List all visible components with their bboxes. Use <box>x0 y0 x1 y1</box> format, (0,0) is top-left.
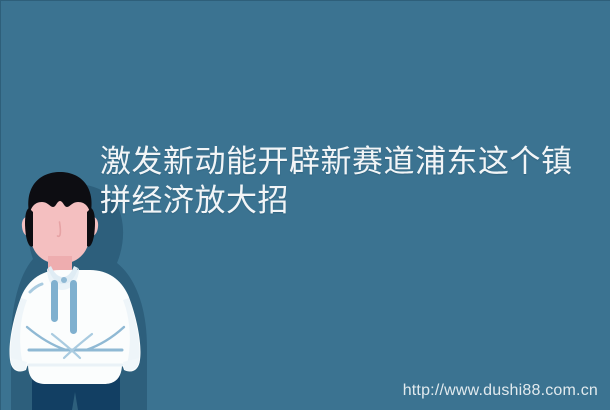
watermark-url: http://www.dushi88.com.cn <box>403 382 598 400</box>
news-thumbnail-card: 激发新动能开辟新赛道浦东这个镇 拼经济放大招 http://www.dushi8… <box>0 0 610 410</box>
headline-line-2: 拼经济放大招 <box>100 181 595 220</box>
page-title: 激发新动能开辟新赛道浦东这个镇 拼经济放大招 <box>100 142 595 220</box>
drawstring-left <box>51 280 58 322</box>
hair-side-left <box>25 208 33 247</box>
headline-line-1: 激发新动能开辟新赛道浦东这个镇 <box>100 142 595 181</box>
drawstring-right <box>70 280 77 334</box>
hood-eyelet <box>61 277 67 283</box>
